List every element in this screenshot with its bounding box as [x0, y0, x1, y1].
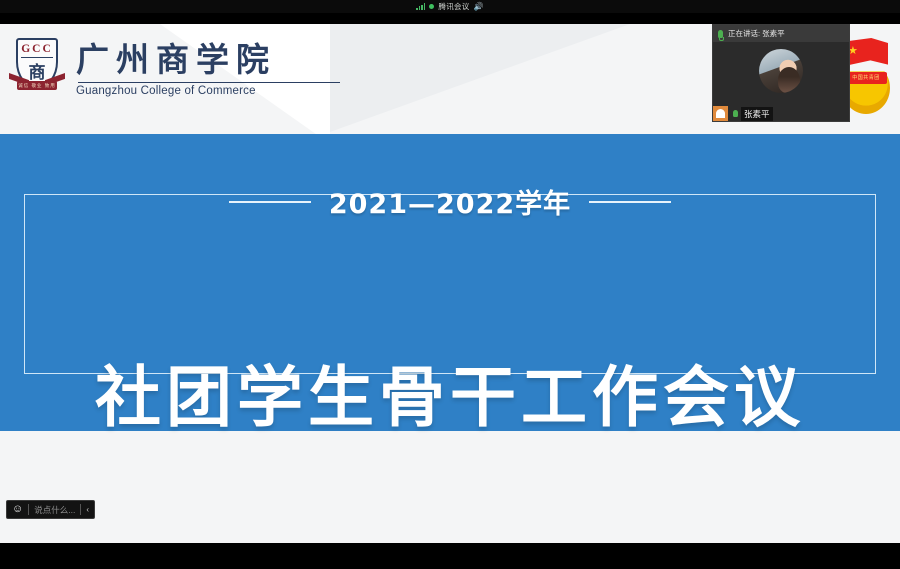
- college-logo: GCC 商 诚信 敬业 致用 广州商学院 Guangzhou College o…: [10, 36, 340, 102]
- microphone-icon: [718, 30, 723, 38]
- chat-input-placeholder[interactable]: 说点什么...: [34, 504, 75, 516]
- year-dash-right: [589, 201, 671, 203]
- status-bar: 腾讯会议 🔊: [0, 0, 900, 13]
- green-dot-icon: [429, 4, 434, 9]
- participant-avatar: [759, 49, 803, 93]
- speaker-icon: 🔊: [474, 3, 484, 11]
- status-app-name: 腾讯会议: [438, 1, 469, 12]
- college-name-cn: 广州商学院: [76, 43, 340, 79]
- video-call-overlay[interactable]: 正在讲话: 张素平 张素平: [712, 24, 850, 122]
- college-name-block: 广州商学院 Guangzhou College of Commerce: [76, 41, 340, 98]
- year-dash-left: [229, 201, 311, 203]
- emblem-banner-text: 中国共青团: [845, 72, 887, 84]
- crest-motto: 诚信 敬业 致用: [17, 81, 57, 90]
- participant-name: 张素平: [741, 107, 773, 121]
- title-banner: 2021—2022学年 社团学生骨干工作会议: [0, 134, 900, 431]
- academic-year-label: 2021—2022学年: [329, 182, 571, 221]
- title-frame: [24, 194, 876, 374]
- slide-main-title: 社团学生骨干工作会议: [0, 366, 900, 432]
- video-overlay-topbar: 正在讲话: 张素平: [713, 25, 849, 42]
- chat-divider: [28, 504, 29, 515]
- chevron-left-icon[interactable]: ‹: [86, 506, 89, 514]
- video-stage[interactable]: 张素平: [713, 42, 849, 121]
- microphone-icon: [733, 110, 738, 117]
- chat-divider: [80, 504, 81, 515]
- participant-avatar-icon: [713, 106, 728, 121]
- college-crest-icon: GCC 商 诚信 敬业 致用: [10, 36, 64, 102]
- college-name-en: Guangzhou College of Commerce: [76, 85, 340, 97]
- active-speaker-label: 正在讲话: 张素平: [728, 28, 785, 39]
- signal-bars-icon: [416, 3, 425, 10]
- crest-initials: GCC: [10, 43, 64, 55]
- chat-input-bar[interactable]: ☺ 说点什么... ‹: [6, 500, 95, 519]
- academic-year-row: 2021—2022学年: [0, 182, 900, 221]
- brand-divider: [78, 82, 340, 84]
- participant-name-bar: 张素平: [713, 106, 773, 121]
- emoji-icon[interactable]: ☺: [12, 504, 23, 515]
